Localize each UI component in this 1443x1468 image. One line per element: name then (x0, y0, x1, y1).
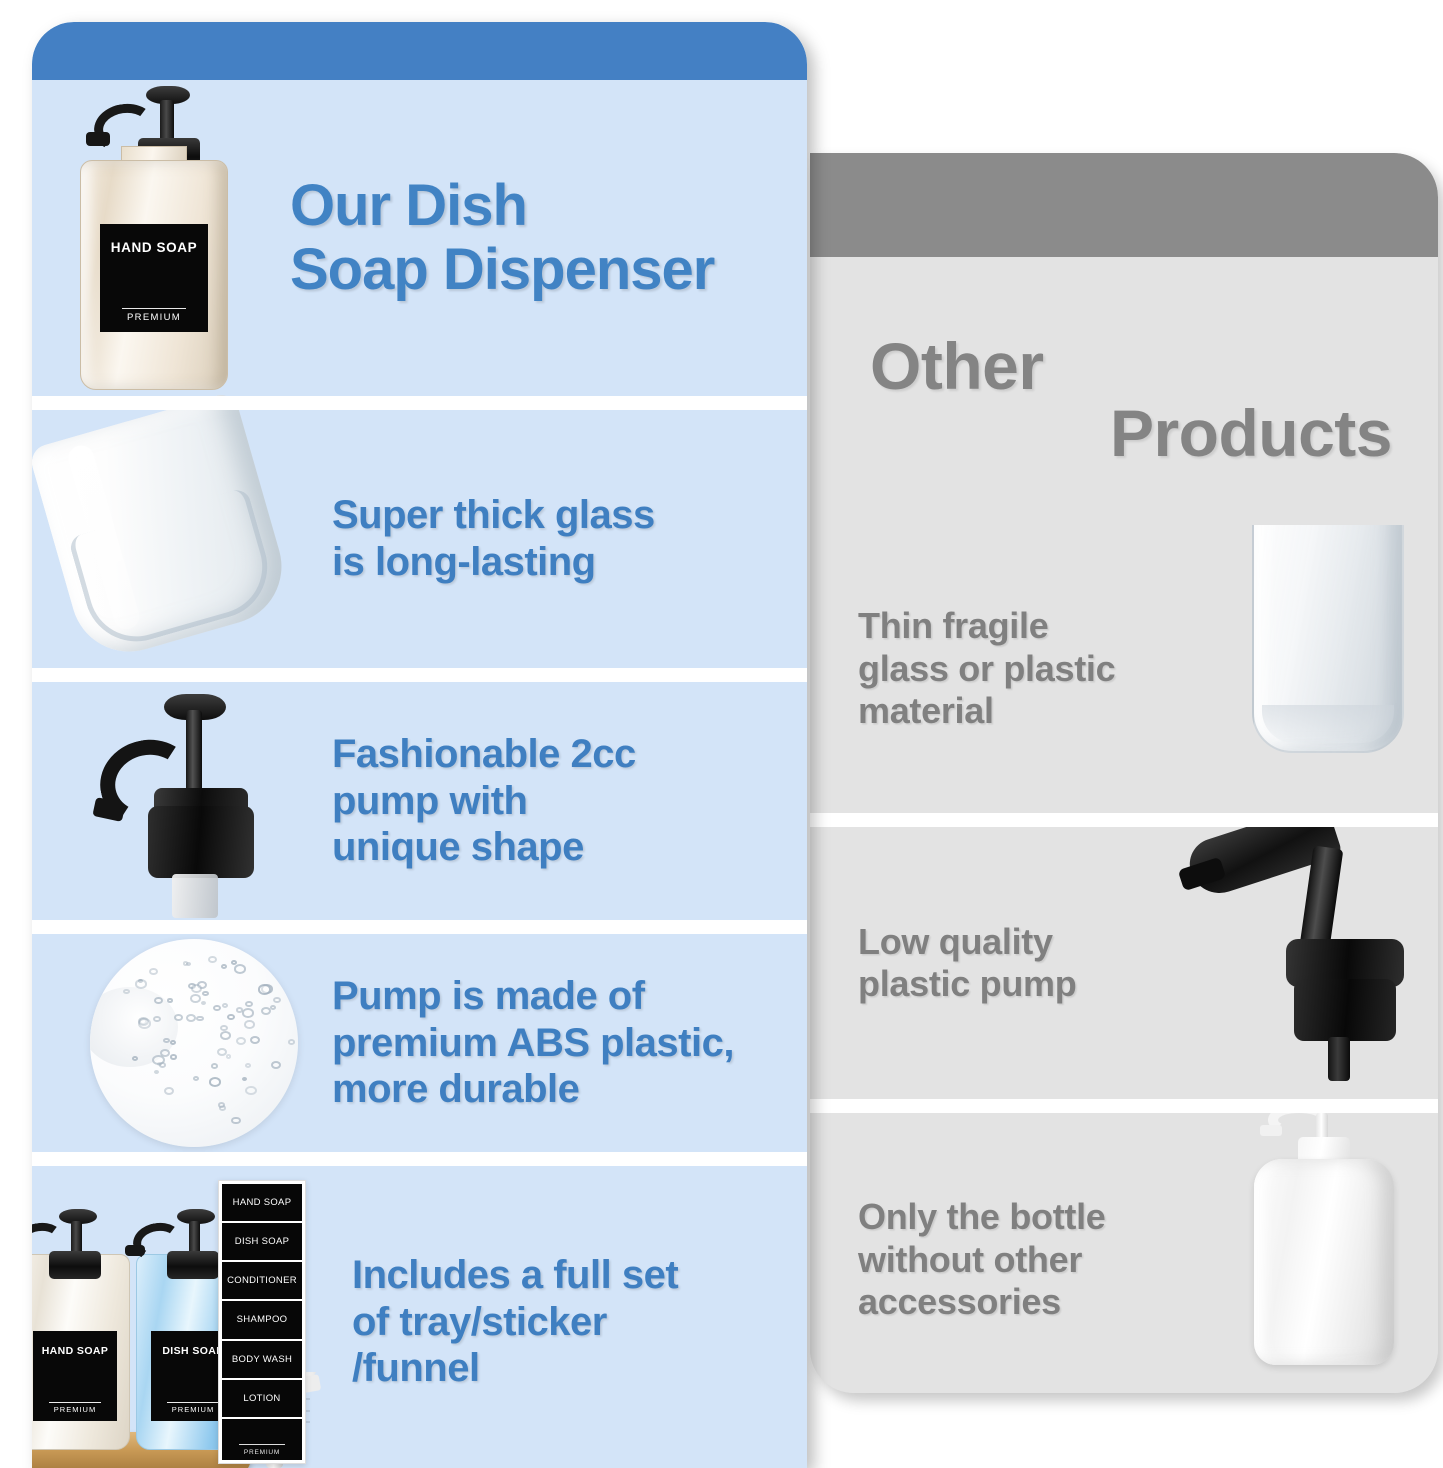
pump-head-icon (32, 682, 312, 920)
row-divider (810, 813, 1438, 827)
feature-label-abs-plastic: Pump is made of premium ABS plastic, mor… (332, 973, 734, 1113)
other-products-title: Other Products (810, 257, 1438, 525)
feature-row-full-set: HAND SOAP PREMIUM (32, 1166, 807, 1468)
other-products-drawback-list: Thin fragile glass or plastic material L… (810, 525, 1438, 1393)
our-product-title-line2: Soap Dispenser (290, 237, 714, 302)
set-bottle-label-text: HAND SOAP (42, 1345, 109, 1357)
sticker-footer: PREMIUM (222, 1419, 302, 1460)
sticker-label: BODY WASH (222, 1341, 302, 1378)
drawback-row-plastic-pump: Low quality plastic pump (810, 827, 1438, 1099)
our-product-title-row: HAND SOAP PREMIUM Our DishSoap Dispenser (32, 80, 807, 396)
row-divider (32, 1152, 807, 1166)
row-divider (32, 396, 807, 410)
feature-label-full-set: Includes a full set of tray/sticker /fun… (352, 1252, 678, 1392)
row-divider (32, 920, 807, 934)
our-product-title-line1: Our Dish (290, 173, 527, 238)
other-products-title-line2: Products (1110, 400, 1392, 467)
set-bottle-sublabel: PREMIUM (172, 1405, 214, 1414)
abs-pellets-icon (32, 934, 312, 1152)
cheap-plastic-pump-icon (1138, 827, 1438, 1099)
soap-bottle-icon (32, 410, 312, 668)
plain-white-bottle-icon (1138, 1113, 1438, 1393)
feature-row-abs-plastic: Pump is made of premium ABS plastic, mor… (32, 934, 807, 1152)
hero-soap-bottle-icon: HAND SOAP PREMIUM (32, 80, 312, 396)
sticker-label: LOTION (222, 1380, 302, 1417)
comparison-infographic: Other Products Thin fragile glass or pla… (0, 0, 1443, 1468)
drawback-label-bottle-only: Only the bottle without other accessorie… (810, 1196, 1106, 1323)
drawback-row-thin-glass: Thin fragile glass or plastic material (810, 525, 1438, 813)
sticker-label: CONDITIONER (222, 1262, 302, 1299)
feature-label-2cc-pump: Fashionable 2cc pump with unique shape (332, 731, 636, 871)
feature-label-thick-glass: Super thick glass is long-lasting (332, 492, 655, 586)
our-product-title: Our DishSoap Dispenser (290, 174, 714, 302)
other-products-panel: Other Products Thin fragile glass or pla… (810, 153, 1438, 1393)
our-product-header-band (32, 22, 807, 80)
drawback-label-plastic-pump: Low quality plastic pump (810, 921, 1076, 1006)
sticker-label: SHAMPOO (222, 1301, 302, 1338)
full-set-icon: HAND SOAP PREMIUM (32, 1166, 352, 1468)
drawback-row-bottle-only: Only the bottle without other accessorie… (810, 1113, 1438, 1393)
hero-bottle-sublabel: PREMIUM (127, 312, 181, 323)
feature-row-thick-glass: Super thick glass is long-lasting (32, 410, 807, 668)
thin-glass-cylinder-icon (1138, 525, 1438, 813)
other-products-header-band (810, 153, 1438, 257)
hero-bottle-label: HAND SOAP PREMIUM (100, 224, 208, 332)
set-bottle-sublabel: PREMIUM (54, 1405, 96, 1414)
our-product-panel: HAND SOAP PREMIUM Our DishSoap Dispenser (32, 22, 807, 1468)
drawback-label-thin-glass: Thin fragile glass or plastic material (810, 605, 1115, 732)
row-divider (810, 1099, 1438, 1113)
sticker-label: HAND SOAP (222, 1184, 302, 1221)
row-divider (32, 668, 807, 682)
hero-bottle-label-text: HAND SOAP (111, 240, 197, 255)
set-bottle-label: HAND SOAP PREMIUM (33, 1331, 117, 1421)
set-bottle-hand-soap: HAND SOAP PREMIUM (32, 1254, 130, 1450)
feature-row-2cc-pump: Fashionable 2cc pump with unique shape (32, 682, 807, 920)
sticker-label: DISH SOAP (222, 1223, 302, 1260)
set-bottle-label-text: DISH SOAP (162, 1345, 223, 1357)
our-product-feature-list: HAND SOAP PREMIUM Our DishSoap Dispenser (32, 80, 807, 1468)
other-products-title-line1: Other (870, 333, 1044, 400)
sticker-sheet: HAND SOAPDISH SOAPCONDITIONERSHAMPOOBODY… (218, 1180, 306, 1464)
